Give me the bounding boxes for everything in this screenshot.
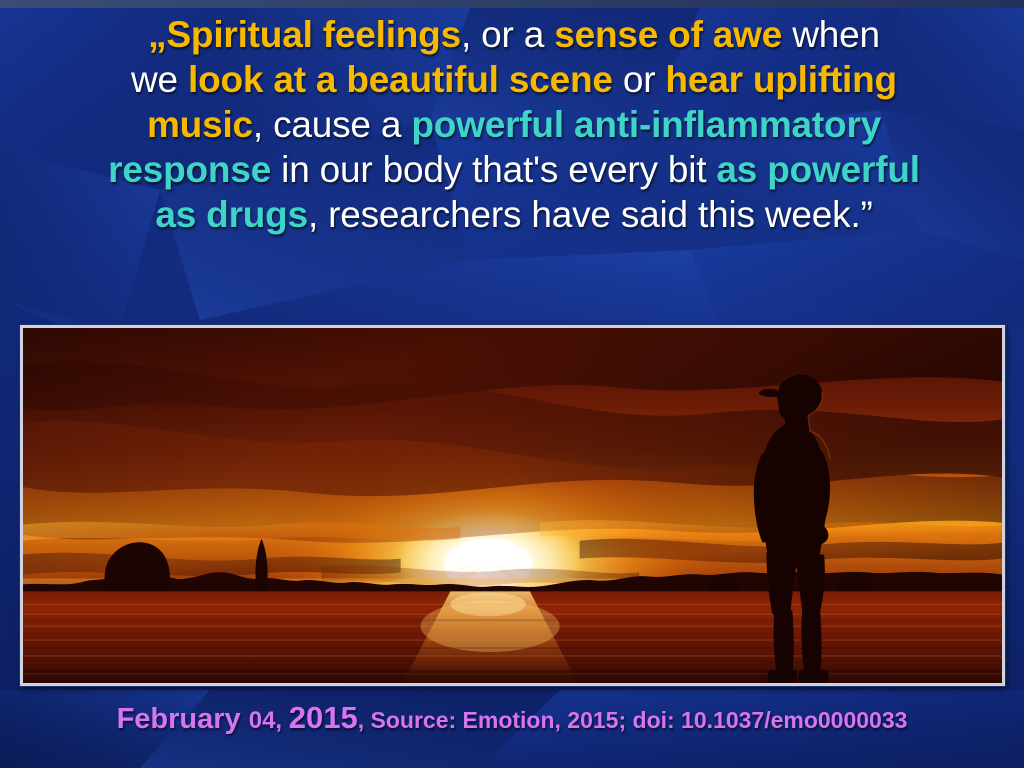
quote-line-2: we look at a beautiful scene or hear upl… <box>18 61 1010 98</box>
quote-seg-sense-of-awe: sense of awe <box>554 14 782 55</box>
quote-seg-hear-uplifting: hear uplifting <box>665 59 897 100</box>
quote-seg-or-a: or a <box>481 14 554 55</box>
quote-text-block: „Spiritual feelings, or a sense of awe w… <box>18 16 1010 241</box>
quote-seg-spiritual-feelings: „Spiritual feelings <box>148 14 461 55</box>
quote-seg-we: we <box>131 59 188 100</box>
sunset-photo <box>23 328 1002 686</box>
source-footer: February 04, 2015, Source: Emotion, 2015… <box>0 700 1024 736</box>
quote-seg-or: or <box>613 59 666 100</box>
quote-seg-as-drugs: as drugs <box>155 194 308 235</box>
quote-seg-when: when <box>782 14 880 55</box>
quote-line-5: as drugs, researchers have said this wee… <box>18 196 1010 233</box>
quote-line-1: „Spiritual feelings, or a sense of awe w… <box>18 16 1010 53</box>
footer-year: 2015 <box>289 700 358 735</box>
quote-seg-comma-1: , <box>461 14 481 55</box>
quote-seg-researchers: , researchers have said this week.” <box>308 194 873 235</box>
quote-seg-cause-a: , cause a <box>253 104 411 145</box>
quote-seg-anti-inflammatory: powerful anti-inflammatory <box>411 104 881 145</box>
footer-source: , Source: Emotion, 2015; doi: 10.1037/em… <box>358 707 908 733</box>
footer-month: February <box>117 703 249 735</box>
quote-seg-music: music <box>147 104 253 145</box>
footer-day: 04, <box>249 707 289 734</box>
slide-canvas: „Spiritual feelings, or a sense of awe w… <box>0 0 1024 768</box>
sunset-photo-frame <box>20 325 1005 686</box>
quote-line-4: response in our body that's every bit as… <box>18 151 1010 188</box>
quote-line-3: music, cause a powerful anti-inflammator… <box>18 106 1010 143</box>
quote-seg-response: response <box>108 149 271 190</box>
quote-seg-in-our-body: in our body that's every bit <box>271 149 716 190</box>
quote-seg-as-powerful: as powerful <box>716 149 919 190</box>
quote-seg-beautiful-scene: look at a beautiful scene <box>188 59 613 100</box>
